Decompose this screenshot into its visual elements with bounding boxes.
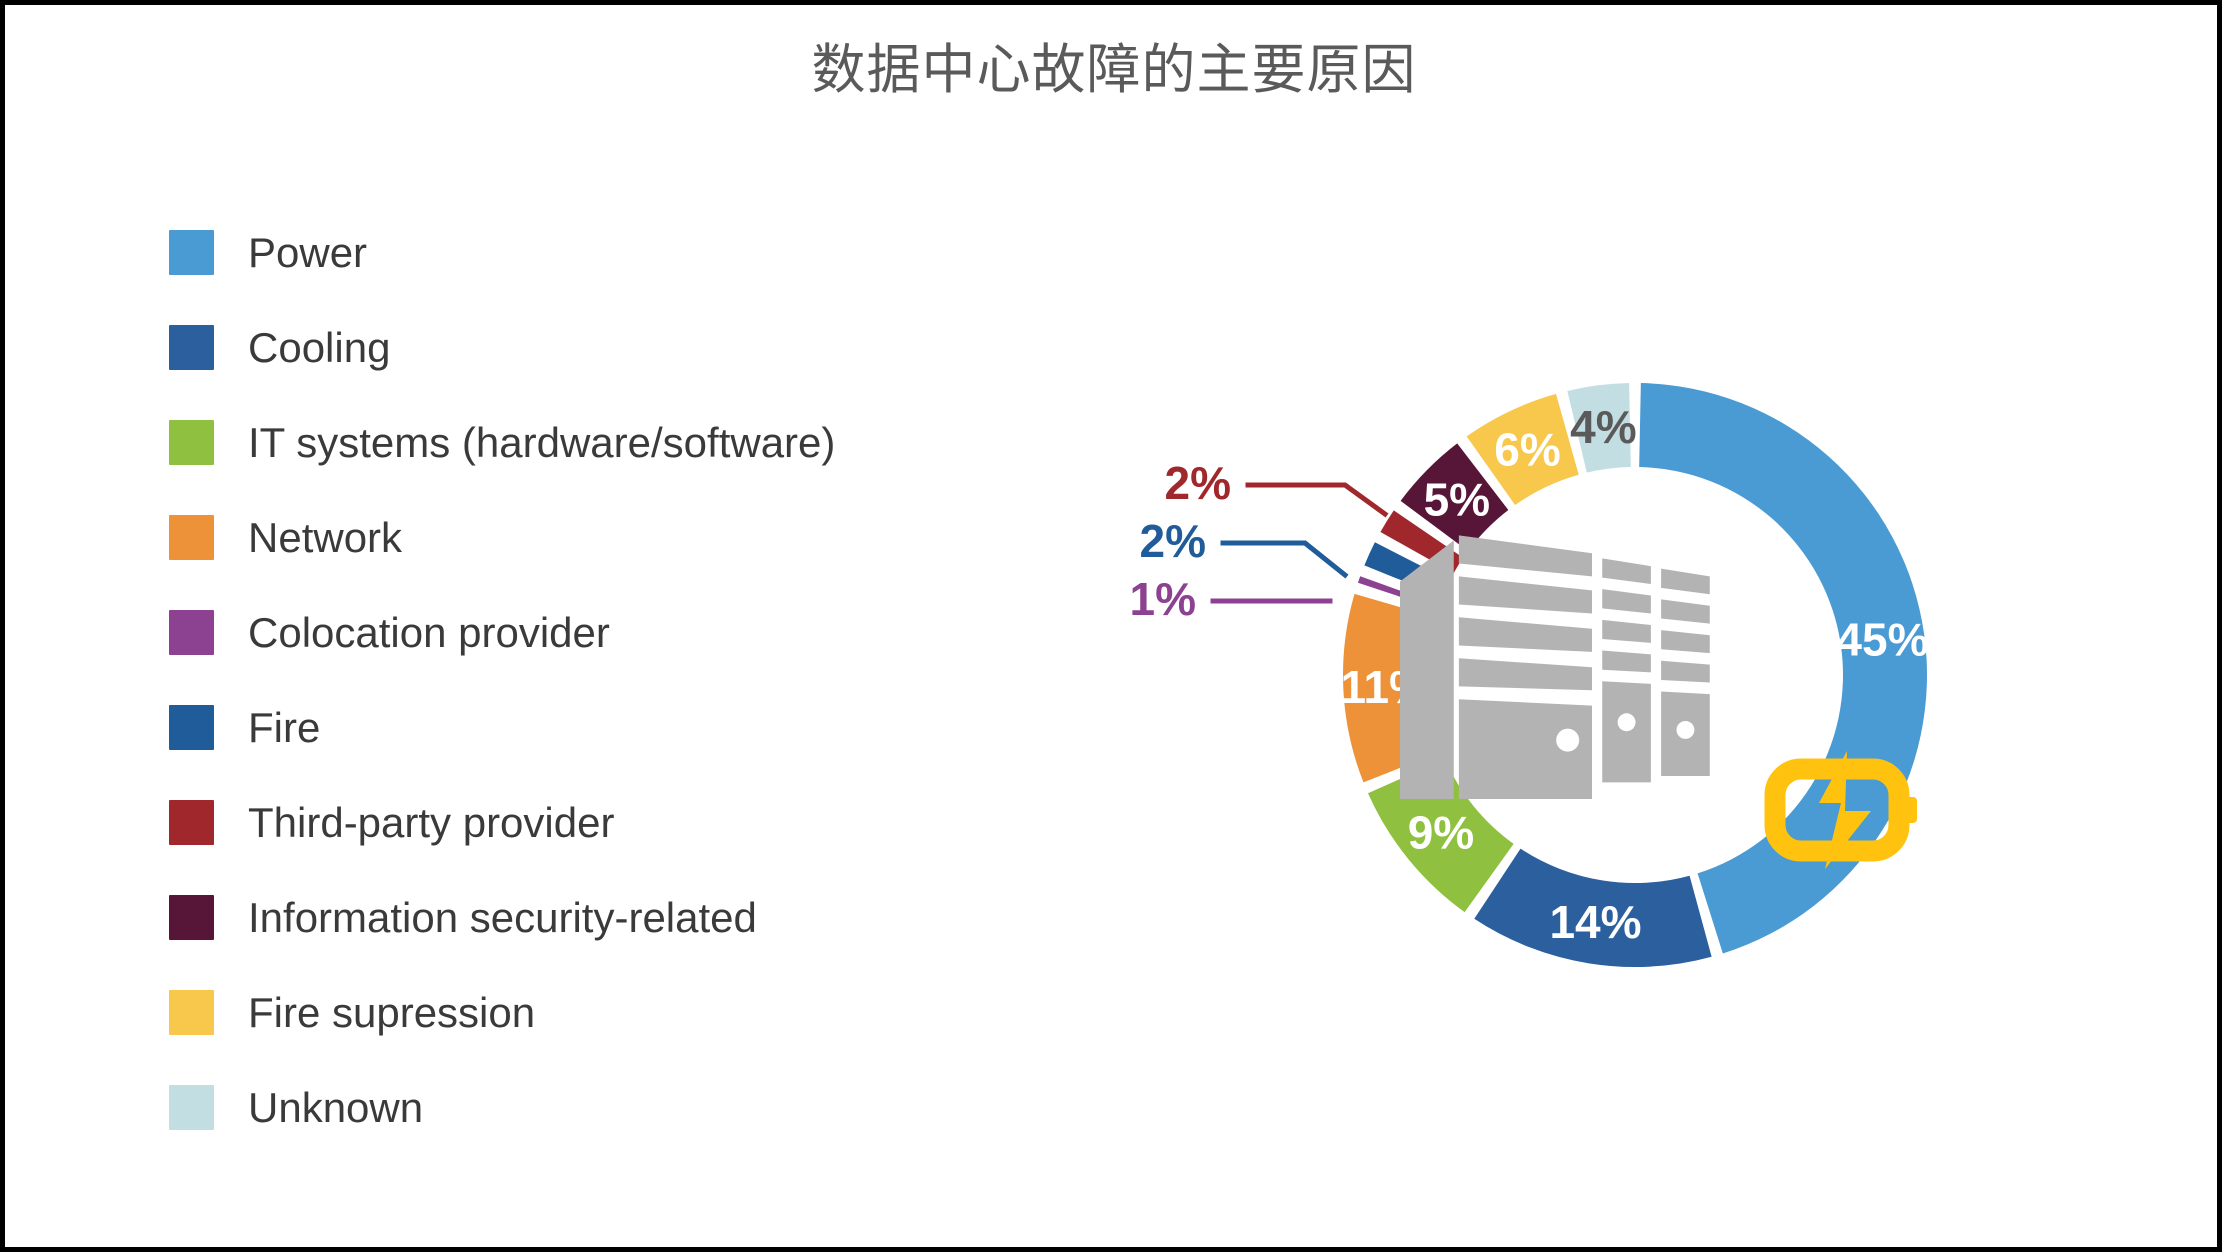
- callout-label-fire: 2%: [1140, 515, 1206, 567]
- legend-swatch-information-security-related: [169, 895, 214, 940]
- legend-label-colocation-provider: Colocation provider: [248, 609, 610, 657]
- legend-item-cooling[interactable]: Cooling: [169, 300, 1029, 395]
- legend-label-third-party-provider: Third-party provider: [248, 799, 614, 847]
- donut-callouts: 2% 2% 1%: [1130, 457, 1385, 625]
- legend-label-fire-supression: Fire supression: [248, 989, 535, 1037]
- callout-label-colocation: 1%: [1130, 573, 1196, 625]
- donut-slice-label: 5%: [1424, 474, 1490, 526]
- donut-slice-label: 45%: [1836, 613, 1928, 665]
- callout-line-third-party: [1248, 485, 1385, 514]
- callout-label-third-party: 2%: [1165, 457, 1231, 509]
- legend-item-it-systems[interactable]: IT systems (hardware/software): [169, 395, 1029, 490]
- chart-canvas: 数据中心故障的主要原因 Power Cooling IT systems (ha…: [0, 0, 2222, 1252]
- donut-slice-label: 14%: [1549, 896, 1641, 948]
- legend-item-unknown[interactable]: Unknown: [169, 1060, 1029, 1155]
- chart-legend: Power Cooling IT systems (hardware/softw…: [169, 205, 1029, 1155]
- legend-swatch-it-systems: [169, 420, 214, 465]
- legend-swatch-unknown: [169, 1085, 214, 1130]
- donut-slice-label: 6%: [1494, 423, 1560, 475]
- legend-item-network[interactable]: Network: [169, 490, 1029, 585]
- legend-swatch-fire-supression: [169, 990, 214, 1035]
- donut-slice-label: 9%: [1408, 807, 1474, 859]
- legend-swatch-network: [169, 515, 214, 560]
- legend-swatch-third-party-provider: [169, 800, 214, 845]
- legend-item-information-security-related[interactable]: Information security-related: [169, 870, 1029, 965]
- legend-label-fire: Fire: [248, 704, 320, 752]
- legend-item-third-party-provider[interactable]: Third-party provider: [169, 775, 1029, 870]
- callout-line-fire: [1223, 543, 1345, 575]
- legend-item-colocation-provider[interactable]: Colocation provider: [169, 585, 1029, 680]
- legend-swatch-power: [169, 230, 214, 275]
- legend-label-it-systems: IT systems (hardware/software): [248, 419, 835, 467]
- legend-label-network: Network: [248, 514, 402, 562]
- donut-chart-svg: 45%14%9%11%5%6%4% 2% 2% 1%: [1055, 155, 2175, 1215]
- chart-title-text: 数据中心故障的主要原因: [812, 35, 1417, 105]
- page-title: 数据中心故障的主要原因: [5, 35, 2222, 105]
- legend-swatch-colocation-provider: [169, 610, 214, 655]
- legend-swatch-cooling: [169, 325, 214, 370]
- donut-slice-label: 4%: [1570, 401, 1636, 453]
- legend-label-cooling: Cooling: [248, 324, 390, 372]
- legend-label-unknown: Unknown: [248, 1084, 423, 1132]
- legend-swatch-fire: [169, 705, 214, 750]
- donut-chart: 45%14%9%11%5%6%4% 2% 2% 1%: [1055, 155, 2175, 1215]
- legend-item-power[interactable]: Power: [169, 205, 1029, 300]
- legend-item-fire[interactable]: Fire: [169, 680, 1029, 775]
- server-racks-icon: [1400, 535, 1710, 799]
- legend-label-information-security-related: Information security-related: [248, 894, 757, 942]
- legend-label-power: Power: [248, 229, 367, 277]
- legend-item-fire-supression[interactable]: Fire supression: [169, 965, 1029, 1060]
